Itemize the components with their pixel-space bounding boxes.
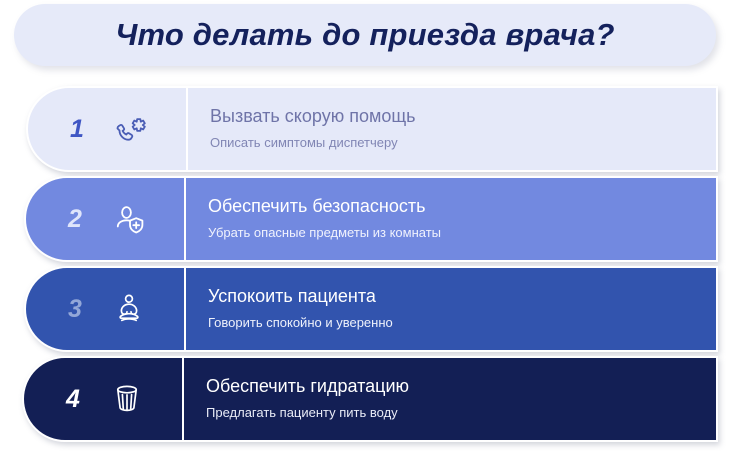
water-glass-icon: [108, 380, 146, 418]
person-shield-plus-icon: [110, 200, 148, 238]
header-banner: Что делать до приезда врача?: [14, 4, 716, 66]
step-content: Обеспечить безопасность Убрать опасные п…: [186, 178, 716, 260]
step-row[interactable]: 1 Вызвать скорую помощь Описать симптомы…: [26, 86, 718, 172]
step-marker: 4: [24, 358, 184, 440]
step-row[interactable]: 4 Обеспечить гидратацию Предлагать пацие…: [22, 356, 718, 442]
step-subtitle: Говорить спокойно и уверенно: [208, 316, 716, 330]
step-number: 4: [62, 387, 84, 412]
step-title: Вызвать скорую помощь: [210, 107, 716, 127]
step-row[interactable]: 2 Обеспечить безопасность Убрать опасные…: [24, 176, 718, 262]
step-content: Успокоить пациента Говорить спокойно и у…: [186, 268, 716, 350]
step-subtitle: Описать симптомы диспетчеру: [210, 136, 716, 150]
step-title: Обеспечить безопасность: [208, 197, 716, 217]
step-marker: 1: [28, 88, 188, 170]
step-title: Обеспечить гидратацию: [206, 377, 716, 397]
step-subtitle: Убрать опасные предметы из комнаты: [208, 226, 716, 240]
steps-list: 1 Вызвать скорую помощь Описать симптомы…: [0, 86, 730, 446]
step-number: 3: [64, 297, 86, 322]
step-content: Обеспечить гидратацию Предлагать пациент…: [184, 358, 716, 440]
step-marker: 3: [26, 268, 186, 350]
page-title: Что делать до приезда врача?: [115, 17, 614, 53]
step-subtitle: Предлагать пациенту пить воду: [206, 406, 716, 420]
step-marker: 2: [26, 178, 186, 260]
phone-medical-cross-icon: [112, 110, 150, 148]
step-content: Вызвать скорую помощь Описать симптомы д…: [188, 88, 716, 170]
meditating-person-icon: [110, 290, 148, 328]
step-number: 1: [66, 117, 88, 142]
step-row[interactable]: 3 Успокоить пациента Говорить спокойно и…: [24, 266, 718, 352]
step-number: 2: [64, 207, 86, 232]
step-title: Успокоить пациента: [208, 287, 716, 307]
